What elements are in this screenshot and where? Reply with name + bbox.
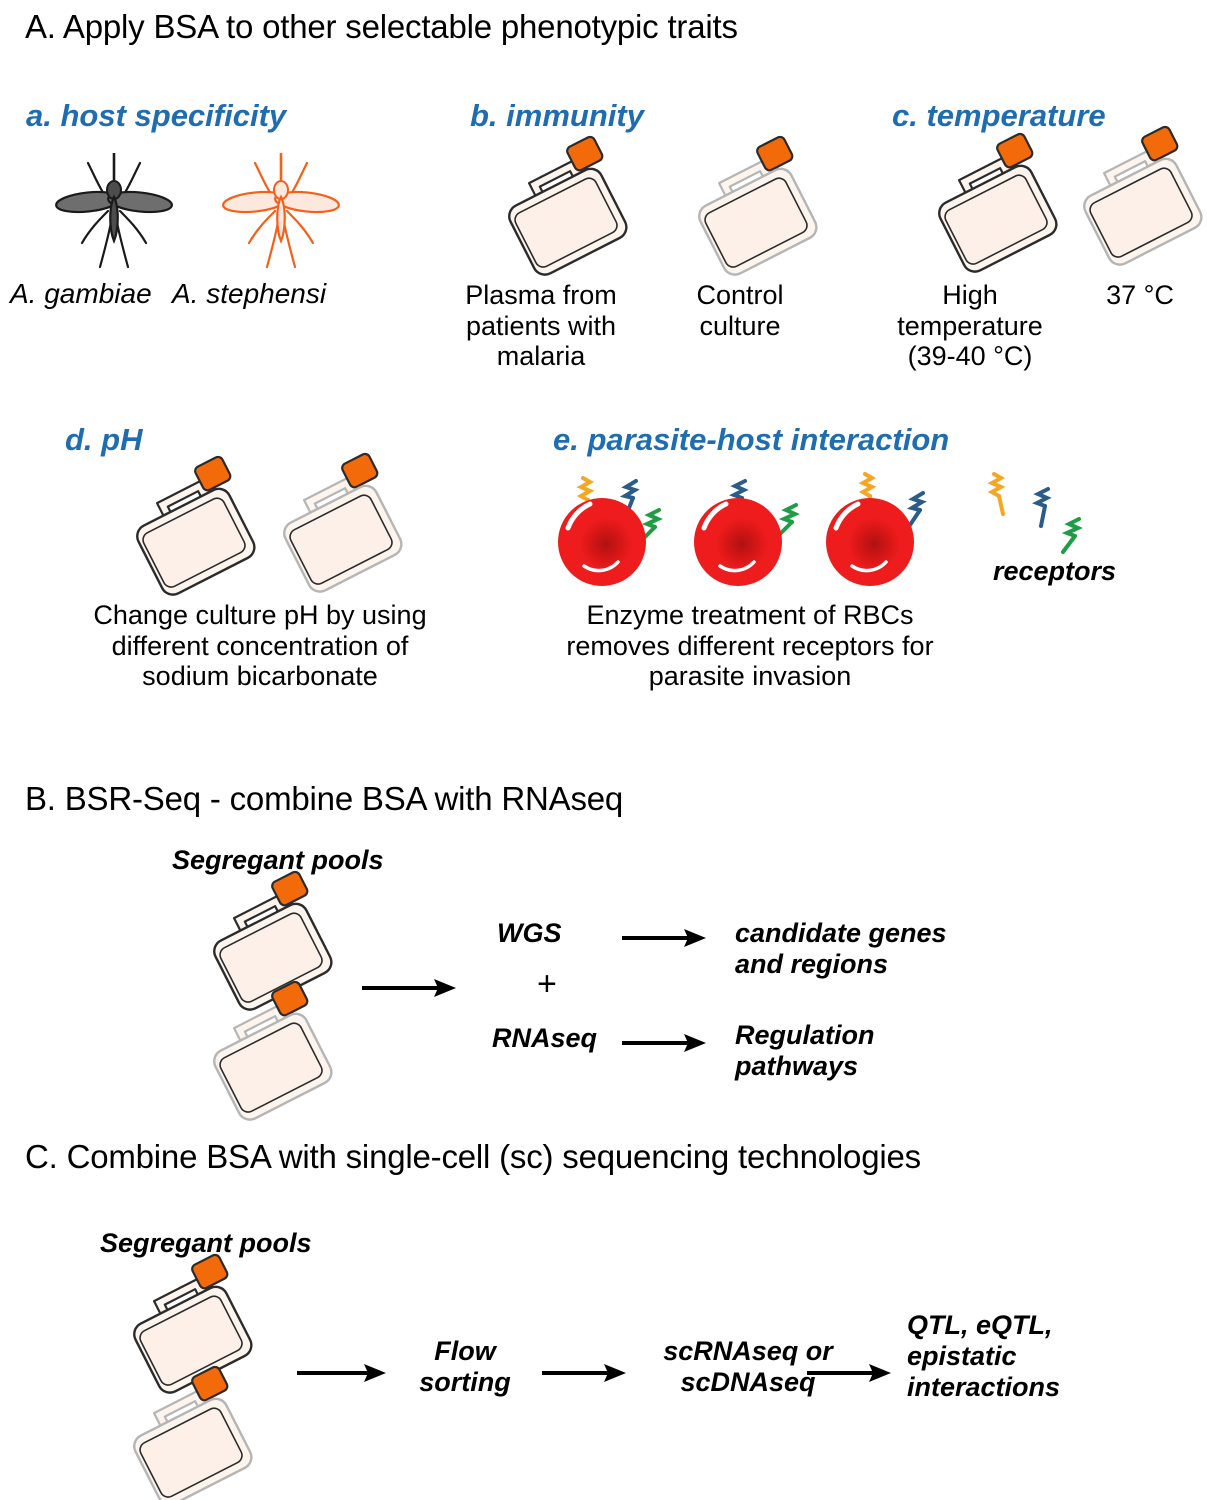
panel-c-title: C. Combine BSA with single-cell (sc) seq… xyxy=(25,1138,921,1176)
subpanel-b-heading: b. immunity xyxy=(470,98,644,134)
caption-plasma-malaria: Plasma from patients with malaria xyxy=(443,280,639,372)
panel-b-title: B. BSR-Seq - combine BSA with RNAseq xyxy=(25,780,623,818)
receptors-legend-label: receptors xyxy=(993,556,1116,587)
panel-b-method-plus: + xyxy=(537,965,557,1004)
culture-flask-icon xyxy=(500,160,640,270)
caption-high-temperature: High temperature (39-40 °C) xyxy=(870,280,1070,372)
receptor-green-icon xyxy=(1063,536,1075,552)
panel-c-arrow-1 xyxy=(295,1360,390,1386)
mosquito-icon xyxy=(215,145,345,280)
panel-b-flask-top xyxy=(205,895,345,1005)
panel-c-arrow-2 xyxy=(540,1360,630,1386)
species-label-gambiae: A. gambiae xyxy=(10,278,152,310)
subpanel-d-heading: d. pH xyxy=(65,422,143,458)
flask-37c xyxy=(1075,150,1207,260)
red-blood-cell-icon xyxy=(826,474,923,586)
species-label-stephensi: A. stephensi xyxy=(172,278,326,310)
culture-flask-icon xyxy=(205,895,345,1005)
panel-c-flask-bottom xyxy=(125,1390,265,1500)
mosquito-gambiae-figure xyxy=(48,145,178,280)
panel-c-pools-label: Segregant pools xyxy=(100,1228,312,1259)
flask-control-culture xyxy=(690,160,830,270)
panel-c-flask-top xyxy=(125,1278,265,1388)
panel-b-pools-label: Segregant pools xyxy=(172,845,384,876)
caption-ph: Change culture pH by using different con… xyxy=(50,600,470,692)
receptor-yellow-icon xyxy=(999,496,1003,514)
receptor-legend-icons xyxy=(985,478,1105,568)
culture-flask-icon xyxy=(1075,150,1207,260)
panel-b-method-wgs: WGS xyxy=(497,918,562,949)
rbc-group xyxy=(540,470,960,595)
panel-b-method-rnaseq: RNAseq xyxy=(492,1023,597,1054)
panel-b-output-regulation-pathways: Regulation pathways xyxy=(735,1020,1035,1082)
receptor-blue-icon xyxy=(1041,506,1045,526)
red-blood-cell-icon xyxy=(558,478,659,586)
culture-flask-icon xyxy=(125,1278,265,1388)
flask-ph-1 xyxy=(128,480,268,590)
culture-flask-icon xyxy=(125,1390,265,1500)
red-blood-cell-icon xyxy=(694,481,796,586)
panel-b-arrow-wgs xyxy=(620,925,710,951)
panel-c-step-flow-sorting: Flow sorting xyxy=(400,1336,530,1398)
panel-b-arrow-rnaseq xyxy=(620,1030,710,1056)
flask-high-temperature xyxy=(930,157,1070,267)
subpanel-e-heading: e. parasite-host interaction xyxy=(553,422,949,458)
culture-flask-icon xyxy=(205,1005,345,1115)
flask-plasma-malaria xyxy=(500,160,640,270)
mosquito-stephensi-figure xyxy=(215,145,345,280)
culture-flask-icon xyxy=(128,480,268,590)
subpanel-c-heading: c. temperature xyxy=(892,98,1106,134)
panel-c-arrow-3 xyxy=(805,1360,895,1386)
caption-37c: 37 °C xyxy=(1085,280,1195,311)
caption-parasite-host: Enzyme treatment of RBCs removes differe… xyxy=(530,600,970,692)
mosquito-icon xyxy=(48,145,178,280)
culture-flask-icon xyxy=(690,160,830,270)
panel-a-title: A. Apply BSA to other selectable phenoty… xyxy=(25,8,738,46)
panel-b-arrow-main xyxy=(360,975,460,1001)
subpanel-a-heading: a. host specificity xyxy=(26,98,286,134)
caption-control-culture: Control culture xyxy=(650,280,830,341)
flask-ph-2 xyxy=(275,477,415,587)
panel-b-flask-bottom xyxy=(205,1005,345,1115)
panel-b-output-candidate-genes: candidate genes and regions xyxy=(735,918,1035,980)
culture-flask-icon xyxy=(930,157,1070,267)
panel-c-step-outputs: QTL, eQTL, epistatic interactions xyxy=(907,1310,1197,1403)
culture-flask-icon xyxy=(275,477,415,587)
